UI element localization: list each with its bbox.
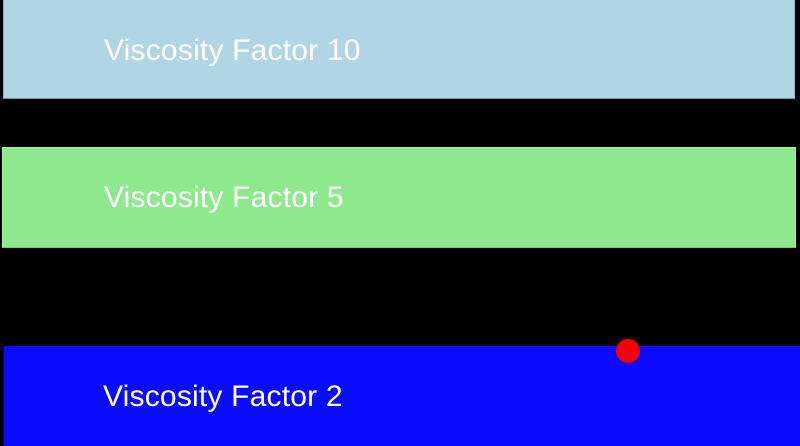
band-viscosity-2-label: Viscosity Factor 2 bbox=[103, 382, 343, 412]
band-viscosity-10[interactable]: Viscosity Factor 10 bbox=[3, 0, 795, 99]
band-viscosity-5-label: Viscosity Factor 5 bbox=[104, 183, 344, 213]
simulation-canvas: Viscosity Factor 10 Viscosity Factor 5 V… bbox=[0, 0, 800, 446]
particle-marker-dot[interactable] bbox=[616, 339, 640, 363]
band-viscosity-10-label: Viscosity Factor 10 bbox=[104, 36, 361, 66]
band-viscosity-2[interactable]: Viscosity Factor 2 bbox=[4, 346, 800, 446]
band-viscosity-5[interactable]: Viscosity Factor 5 bbox=[2, 147, 796, 248]
